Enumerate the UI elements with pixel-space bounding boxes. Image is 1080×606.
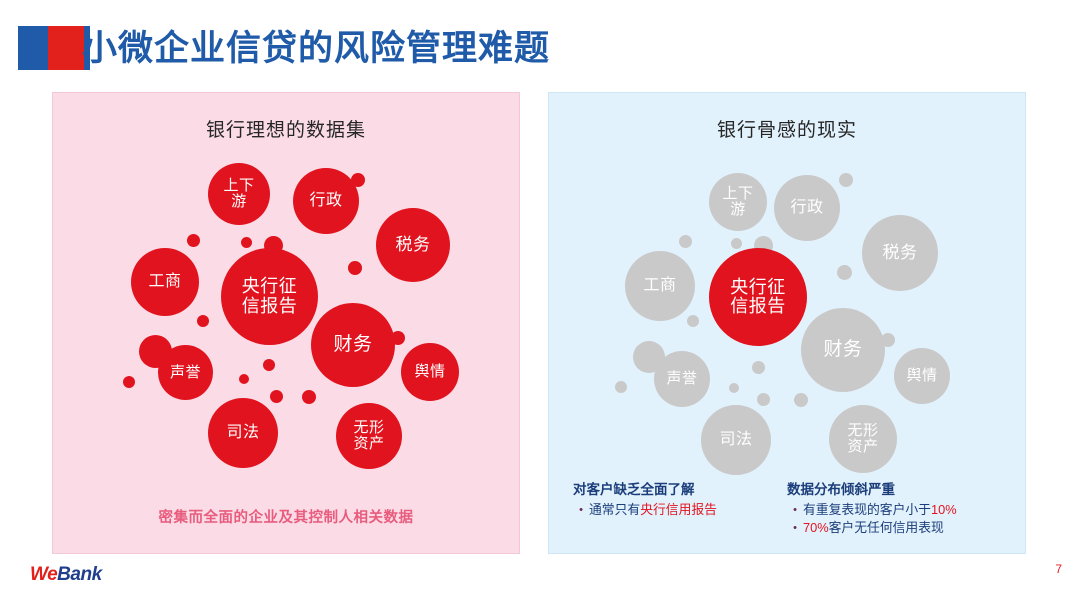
data-bubble-label: 声誉 [170, 365, 201, 381]
logo-bank-text: Bank [57, 564, 101, 585]
data-bubble-label: 央行征 信报告 [730, 278, 786, 316]
bubble-dot [731, 238, 742, 249]
bottom-rule [0, 602, 1080, 606]
bubble-dot [687, 315, 699, 327]
data-bubble-label: 行政 [790, 200, 823, 217]
data-bubble: 工商 [131, 248, 199, 316]
data-bubble: 无形 资产 [829, 405, 897, 473]
bullet-dot-icon: • [573, 501, 589, 519]
page-title: 小微企业信贷的风险管理难题 [82, 29, 550, 69]
data-bubble: 舆情 [894, 348, 950, 404]
note-column: 数据分布倾斜严重•有重复表现的客户小于10%•70%客户无任何信用表现 [787, 481, 1013, 537]
bubble-dot [679, 235, 692, 248]
bubble-dot [187, 234, 200, 247]
data-bubble: 上下 游 [208, 163, 270, 225]
bubble-dot [839, 173, 853, 187]
note-text: 通常只有央行信用报告 [589, 501, 769, 519]
data-bubble: 央行征 信报告 [221, 248, 318, 345]
data-bubble-label: 司法 [719, 432, 752, 449]
data-bubble: 行政 [293, 168, 359, 234]
logo-we-text: We [30, 564, 57, 585]
data-bubble: 司法 [701, 405, 771, 475]
bubble-dot [615, 381, 627, 393]
bubble-dot [197, 315, 209, 327]
bubble-dot [123, 376, 135, 388]
note-text-post: 客户无任何信用表现 [829, 520, 944, 535]
data-bubble: 财务 [801, 308, 885, 392]
data-bubble-label: 舆情 [414, 364, 445, 380]
bubble-dot [752, 361, 765, 374]
title-accent-red-block [48, 26, 84, 70]
data-bubble-label: 上下 游 [722, 186, 753, 218]
data-bubble-label: 工商 [148, 274, 181, 291]
data-bubble-label: 央行征 信报告 [242, 277, 298, 315]
data-bubble-label: 上下 游 [223, 178, 254, 210]
note-heading: 数据分布倾斜严重 [787, 481, 1013, 499]
note-text: 70%客户无任何信用表现 [803, 519, 1013, 537]
data-bubble: 舆情 [401, 343, 459, 401]
data-bubble: 上下 游 [709, 173, 767, 231]
bubble-dot [239, 374, 249, 384]
left-panel-caption: 密集而全面的企业及其控制人相关数据 [53, 506, 519, 527]
data-bubble: 司法 [208, 398, 278, 468]
data-bubble: 行政 [774, 175, 840, 241]
note-text-highlight: 央行信用报告 [640, 502, 717, 517]
data-bubble: 声誉 [654, 351, 710, 407]
bubble-dot [729, 383, 739, 393]
bubble-dot [837, 265, 852, 280]
webank-logo: WeBank [30, 564, 102, 586]
left-panel-ideal-dataset: 银行理想的数据集 上下 游行政税务工商央行征 信报告财务舆情声誉司法无形 资产 … [52, 92, 520, 554]
note-bullet-item: •有重复表现的客户小于10% [787, 501, 1013, 519]
page-number: 7 [1055, 562, 1062, 576]
data-bubble-label: 无形 资产 [847, 423, 878, 455]
bubble-dot [348, 261, 362, 275]
note-text-highlight: 70% [803, 520, 829, 535]
bubble-dot [241, 237, 252, 248]
data-bubble-label: 工商 [643, 278, 676, 295]
bullet-dot-icon: • [787, 501, 803, 519]
bubble-dot [794, 393, 808, 407]
data-bubble-label: 税务 [396, 236, 431, 254]
data-bubble: 税务 [376, 208, 450, 282]
note-text-highlight: 10% [931, 502, 957, 517]
left-bubble-chart: 上下 游行政税务工商央行征 信报告财务舆情声誉司法无形 资产 [53, 93, 519, 553]
data-bubble-label: 舆情 [906, 368, 937, 384]
data-bubble-label: 无形 资产 [353, 420, 384, 452]
data-bubble-label: 税务 [883, 244, 918, 262]
note-bullet-item: •70%客户无任何信用表现 [787, 519, 1013, 537]
note-text: 有重复表现的客户小于10% [803, 501, 1013, 519]
bubble-dot [302, 390, 316, 404]
bullet-dot-icon: • [787, 519, 803, 537]
data-bubble: 央行征 信报告 [709, 248, 807, 346]
right-panel-notes: 对客户缺乏全面了解•通常只有央行信用报告数据分布倾斜严重•有重复表现的客户小于1… [573, 481, 1013, 537]
data-bubble: 无形 资产 [336, 403, 402, 469]
note-bullet-item: •通常只有央行信用报告 [573, 501, 769, 519]
data-bubble: 税务 [862, 215, 938, 291]
slide-header: 小微企业信贷的风险管理难题 [0, 0, 1080, 88]
data-bubble-label: 司法 [226, 425, 259, 442]
data-bubble-label: 行政 [309, 193, 342, 210]
data-bubble: 工商 [625, 251, 695, 321]
right-panel-bony-reality: 银行骨感的现实 上下 游行政税务工商央行征 信报告财务舆情声誉司法无形 资产 对… [548, 92, 1026, 554]
title-accent-blue-block [18, 26, 48, 70]
data-bubble: 财务 [311, 303, 395, 387]
note-text-pre: 有重复表现的客户小于 [803, 502, 931, 517]
data-bubble: 声誉 [158, 345, 213, 400]
data-bubble-label: 财务 [333, 335, 372, 355]
note-column: 对客户缺乏全面了解•通常只有央行信用报告 [573, 481, 769, 537]
note-text-pre: 通常只有 [589, 502, 640, 517]
data-bubble-label: 财务 [823, 340, 862, 360]
note-heading: 对客户缺乏全面了解 [573, 481, 769, 499]
bubble-dot [270, 390, 283, 403]
data-bubble-label: 声誉 [666, 371, 697, 387]
bubble-dot [757, 393, 770, 406]
bubble-dot [263, 359, 275, 371]
